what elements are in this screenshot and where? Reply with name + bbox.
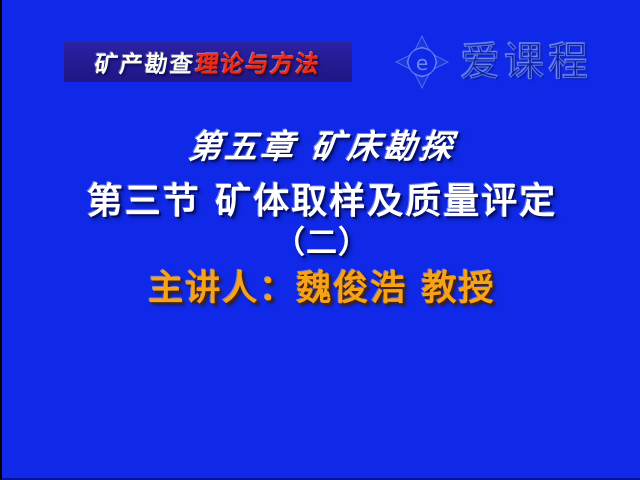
course-title-banner-inner: 矿产勘查 理论与方法 xyxy=(93,45,323,79)
lecture-title-slide: 矿产勘查 理论与方法 e 爱课程 第五章 矿床勘探 第三节 矿体取 xyxy=(0,0,640,480)
svg-text:e: e xyxy=(416,51,428,75)
course-title-secondary: 理论与方法 xyxy=(194,45,323,79)
chapter-heading: 第五章 矿床勘探 xyxy=(0,128,640,166)
icourse-e-emblem-icon: e xyxy=(394,34,450,90)
watermark: e 爱课程 xyxy=(394,34,592,90)
presenter-name: 魏俊浩 xyxy=(296,269,407,309)
presenter-label: 主讲人： xyxy=(148,269,296,309)
course-title-banner: 矿产勘查 理论与方法 xyxy=(64,42,352,82)
section-heading: 第三节 矿体取样及质量评定 xyxy=(2,180,640,223)
part-number: （二） xyxy=(2,225,640,262)
presenter-rank: 教授 xyxy=(422,269,496,309)
presenter-line: 主讲人：魏俊浩 教授 xyxy=(2,268,640,310)
title-block: 第五章 矿床勘探 第三节 矿体取样及质量评定 （二） 主讲人：魏俊浩 教授 xyxy=(2,128,640,310)
watermark-wordmark: 爱课程 xyxy=(460,42,592,82)
course-title-primary: 矿产勘查 xyxy=(93,45,197,79)
